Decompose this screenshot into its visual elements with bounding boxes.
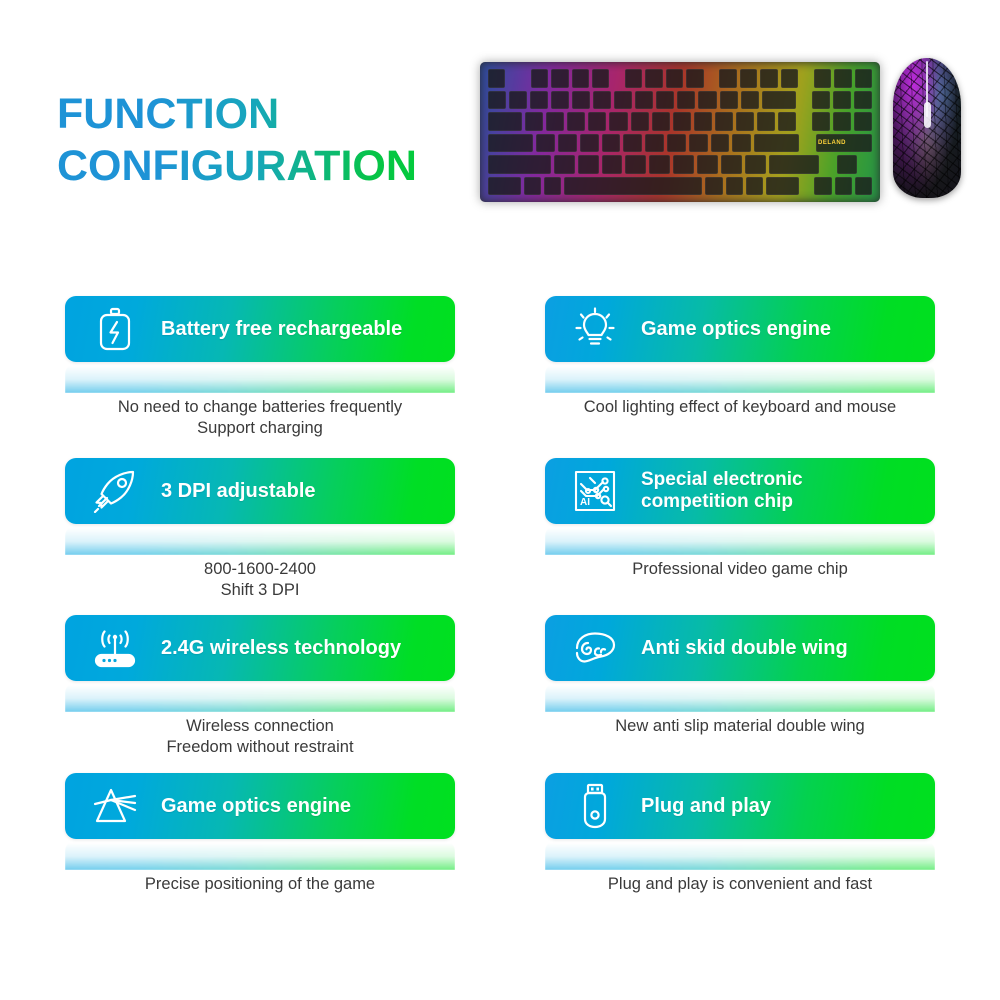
key [635,91,653,110]
product-image-group: DELAND [480,52,995,217]
key [666,69,683,88]
feature-title: Anti skid double wing [641,637,848,660]
key [778,112,796,131]
key [488,91,506,110]
key [558,134,577,153]
svg-text:AI: AI [580,497,590,508]
feature-card[interactable]: Plug and play [545,773,935,839]
key-fn [726,177,743,196]
feature-title: Battery free rechargeable [161,318,402,341]
feature-item-3-dpi-adjustable: 3 DPI adjustable 800-1600-2400 Shift 3 D… [65,458,455,615]
key-space [564,177,702,196]
feature-card[interactable]: Game optics engine [65,773,455,839]
key-arrow-down [835,177,852,196]
mouse-image [885,52,970,204]
feature-subtitle: New anti slip material double wing [545,716,935,737]
card-reflection [65,363,455,393]
feature-row: 2.4G wireless technology Wireless connec… [0,615,1000,773]
keyboard-row-shift [488,155,872,174]
key [645,134,664,153]
spacer [802,134,812,153]
card-reflection [65,840,455,870]
page-header: FUNCTION CONFIGURATION [0,0,1000,250]
key-capslock [488,134,533,153]
key [697,155,718,174]
chip-icon: AI [567,467,623,515]
feature-subtitle: Precise positioning of the game [65,874,455,895]
feature-card[interactable]: 3 DPI adjustable [65,458,455,524]
spacer [802,177,811,196]
key [652,112,670,131]
feature-title: Game optics engine [161,795,351,818]
key [488,69,505,88]
key [732,134,751,153]
spacer [799,91,809,110]
keyboard-row-number [488,91,872,110]
key [745,155,766,174]
spacer [707,69,717,88]
key [602,134,621,153]
brain-icon [567,624,623,672]
key-tab [488,112,522,131]
key [689,134,708,153]
keyboard-row-home [488,134,872,153]
feature-title: 2.4G wireless technology [161,637,401,660]
spacer [801,69,811,88]
key [721,155,742,174]
page-title-line-2: CONFIGURATION [57,140,497,192]
feature-card[interactable]: Game optics engine [545,296,935,362]
feature-row: Battery free rechargeable No need to cha… [0,296,1000,458]
key [781,69,798,88]
feature-title: 3 DPI adjustable [161,480,316,503]
feature-title: Special electronic competition chip [641,469,803,514]
feature-grid: Battery free rechargeable No need to cha… [0,296,1000,903]
key [698,91,716,110]
key [834,69,851,88]
feature-card[interactable]: 2.4G wireless technology [65,615,455,681]
product-feature-page: FUNCTION CONFIGURATION [0,0,1000,1000]
card-reflection [545,682,935,712]
mouse-scroll-wheel [924,102,931,128]
card-reflection [545,363,935,393]
page-title: FUNCTION CONFIGURATION [57,88,497,193]
key-backspace [762,91,796,110]
key [812,112,830,131]
key-alt-right [705,177,722,196]
key [530,91,548,110]
feature-item-2-4g-wireless-technology: 2.4G wireless technology Wireless connec… [65,615,455,773]
router-wifi-icon [87,624,143,672]
key [720,91,738,110]
feature-item-game-optics-engine-bulb: Game optics engine Cool lighting effect … [545,296,935,458]
feature-subtitle: Plug and play is convenient and fast [545,874,935,895]
card-reflection [65,682,455,712]
feature-card[interactable]: Battery free rechargeable [65,296,455,362]
key [623,134,642,153]
spacer [860,155,872,174]
key [592,69,609,88]
key-enter [754,134,799,153]
key [760,69,777,88]
key [593,91,611,110]
keyboard-keys [480,62,880,202]
key [715,112,733,131]
feature-subtitle: No need to change batteries frequently S… [65,397,455,439]
prism-icon [87,782,143,830]
keyboard-row-qwerty [488,112,872,131]
key [673,155,694,174]
feature-subtitle: Professional video game chip [545,559,935,580]
card-reflection [545,525,935,555]
key [719,69,736,88]
key [588,112,606,131]
key [525,112,543,131]
key [833,91,851,110]
spacer [612,69,622,88]
key [649,155,670,174]
feature-item-special-electronic-competition-chip: AI Special electronic competition chip P… [545,458,935,615]
key [631,112,649,131]
key [855,69,872,88]
mouse-body [893,58,961,198]
key [531,69,548,88]
key [614,91,632,110]
key [694,112,712,131]
feature-card[interactable]: Anti skid double wing [545,615,935,681]
feature-title: Game optics engine [641,318,831,341]
key [625,155,646,174]
feature-subtitle: Cool lighting effect of keyboard and mou… [545,397,935,418]
key [602,155,623,174]
rocket-icon [87,467,143,515]
lightbulb-icon [567,305,623,353]
key [625,69,642,88]
keyboard-row-function [488,69,872,88]
key [645,69,662,88]
key [814,69,831,88]
feature-item-battery-free-rechargeable: Battery free rechargeable No need to cha… [65,296,455,458]
key [567,112,585,131]
page-title-line-1: FUNCTION [57,88,497,140]
spacer [799,112,809,131]
feature-row: 3 DPI adjustable 800-1600-2400 Shift 3 D… [0,458,1000,615]
spacer [822,155,834,174]
key-menu [746,177,763,196]
key [812,91,830,110]
key [536,134,555,153]
key [854,91,872,110]
card-reflection [545,840,935,870]
key [572,91,590,110]
key [833,112,851,131]
key [757,112,775,131]
feature-card[interactable]: AI Special electronic competition chip [545,458,935,524]
key [673,112,691,131]
key [578,155,599,174]
key [854,112,872,131]
key [736,112,754,131]
key [677,91,695,110]
usb-drive-icon [567,782,623,830]
key [551,69,568,88]
key [686,69,703,88]
keyboard-brand-label: DELAND [818,140,846,146]
feature-subtitle: 800-1600-2400 Shift 3 DPI [65,559,455,601]
key [609,112,627,131]
key [551,91,569,110]
key [554,155,575,174]
spacer [508,69,527,88]
key [711,134,730,153]
key-alt-left [544,177,561,196]
feature-row: Game optics engine Precise positioning o… [0,773,1000,903]
key [656,91,674,110]
key [572,69,589,88]
battery-icon [87,305,143,353]
key-shift-right [769,155,819,174]
feature-item-anti-skid-double-wing: Anti skid double wing New anti slip mate… [545,615,935,773]
key [546,112,564,131]
key-arrow-right [855,177,872,196]
keyboard-image: DELAND [480,62,880,202]
feature-subtitle: Wireless connection Freedom without rest… [65,716,455,758]
key-shift-left [488,155,551,174]
feature-item-plug-and-play: Plug and play Plug and play is convenien… [545,773,935,903]
feature-item-game-optics-engine-prism: Game optics engine Precise positioning o… [65,773,455,903]
feature-title: Plug and play [641,795,771,818]
key [509,91,527,110]
key-win [524,177,541,196]
key-arrow-left [814,177,831,196]
key-arrow-up [837,155,858,174]
key-ctrl-left [488,177,521,196]
keyboard-row-space [488,177,872,196]
key [580,134,599,153]
key [740,69,757,88]
key-ctrl-right [766,177,799,196]
key [667,134,686,153]
card-reflection [65,525,455,555]
key [741,91,759,110]
